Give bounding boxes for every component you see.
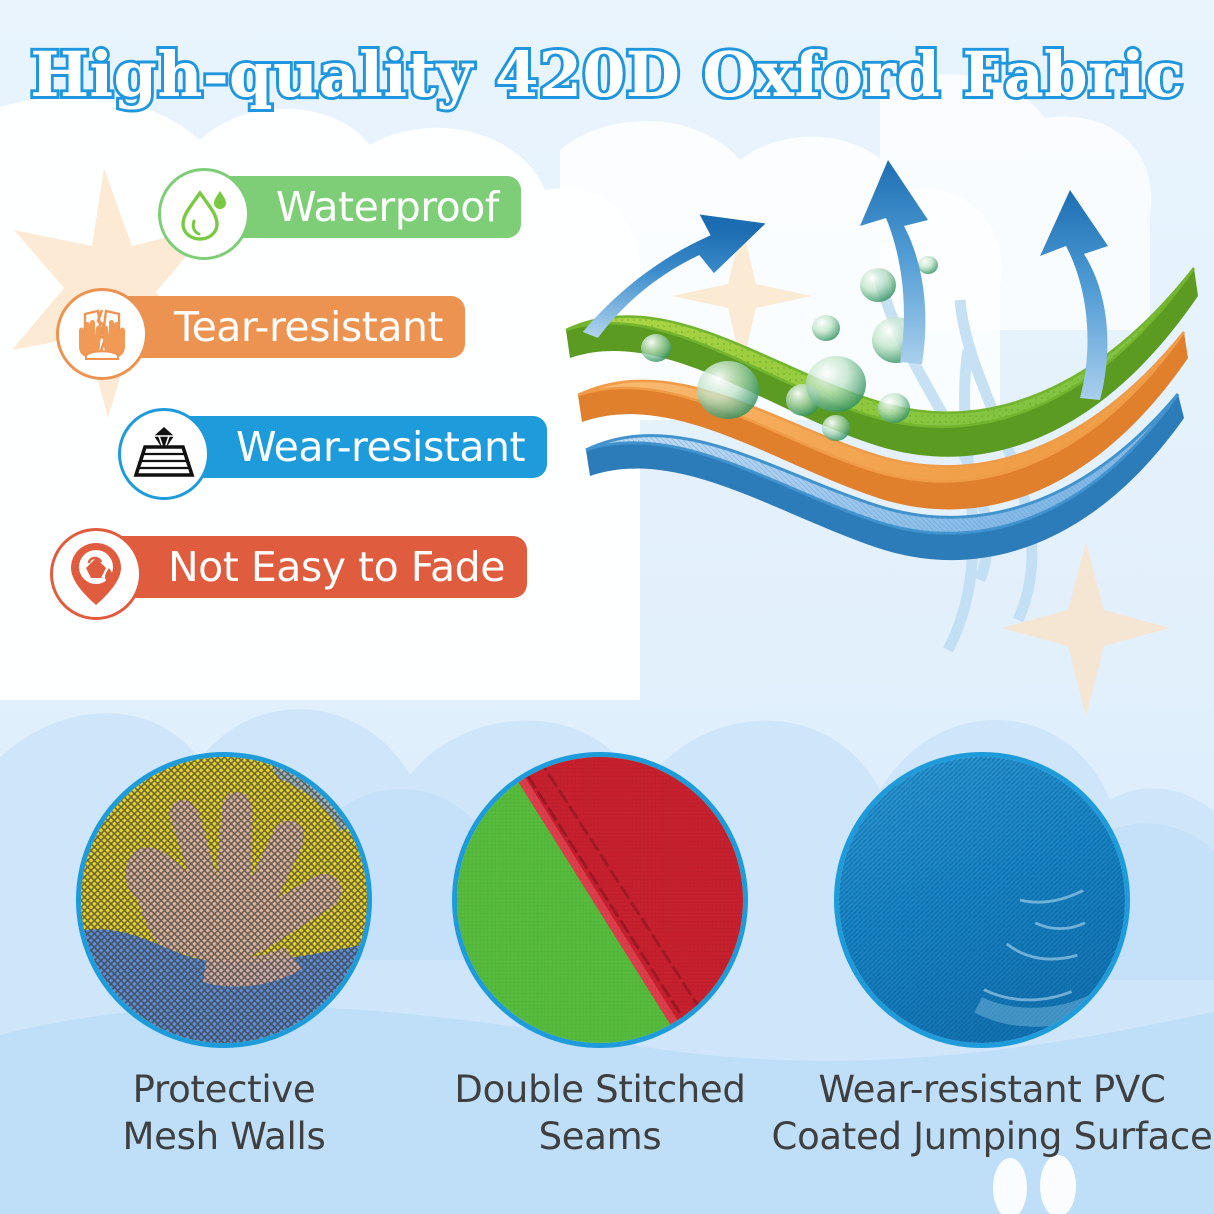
double-stitched-seams-photo[interactable] [452,752,748,1048]
pvc-coated-jumping-surface-photo[interactable] [834,752,1130,1048]
caption-line-1: Wear-resistant PVC [770,1066,1214,1113]
feature-tear-resistant-label: Tear-resistant [174,303,443,351]
caption-pvc-coated-jumping-surface: Wear-resistant PVC Coated Jumping Surfac… [770,1066,1214,1161]
infographic-root: High-quality 420D Oxford Fabric High-qua… [0,0,1214,1214]
caption-row: Protective Mesh Walls Double Stitched Se… [0,1066,1214,1176]
feature-wear-resistant-label: Wear-resistant [236,423,525,471]
page-title: High-quality 420D Oxford Fabric High-qua… [0,42,1214,107]
feature-not-easy-to-fade-label: Not Easy to Fade [168,543,505,591]
caption-line-1: Protective [46,1066,402,1113]
page-title-text: High-quality 420D Oxford Fabric [30,42,1183,107]
caption-line-1: Double Stitched [420,1066,780,1113]
caption-line-2: Seams [420,1113,780,1160]
water-drop-icon [158,168,250,260]
three-layer-fabric-diagram [548,150,1214,670]
caption-protective-mesh-walls: Protective Mesh Walls [46,1066,402,1161]
protective-mesh-walls-photo[interactable] [76,752,372,1048]
feature-waterproof-pill: Waterproof [204,176,521,238]
paint-bucket-pin-icon [50,528,142,620]
hands-tearing-paper-icon [56,288,148,380]
feature-not-easy-to-fade[interactable]: Not Easy to Fade [0,528,600,620]
feature-list: Waterproof Tear-resistant [0,168,600,648]
photo-circle-row [0,740,1214,1080]
feature-wear-resistant-pill: Wear-resistant [164,416,547,478]
feature-waterproof-label: Waterproof [276,183,499,231]
caption-double-stitched-seams: Double Stitched Seams [420,1066,780,1161]
feature-waterproof[interactable]: Waterproof [0,168,600,260]
feature-not-easy-to-fade-pill: Not Easy to Fade [96,536,527,598]
feature-tear-resistant[interactable]: Tear-resistant [0,288,600,380]
diamond-on-fabric-icon [118,408,210,500]
feature-wear-resistant[interactable]: Wear-resistant [0,408,600,500]
caption-line-2: Coated Jumping Surface [770,1113,1214,1160]
feature-tear-resistant-pill: Tear-resistant [102,296,465,358]
caption-line-2: Mesh Walls [46,1113,402,1160]
